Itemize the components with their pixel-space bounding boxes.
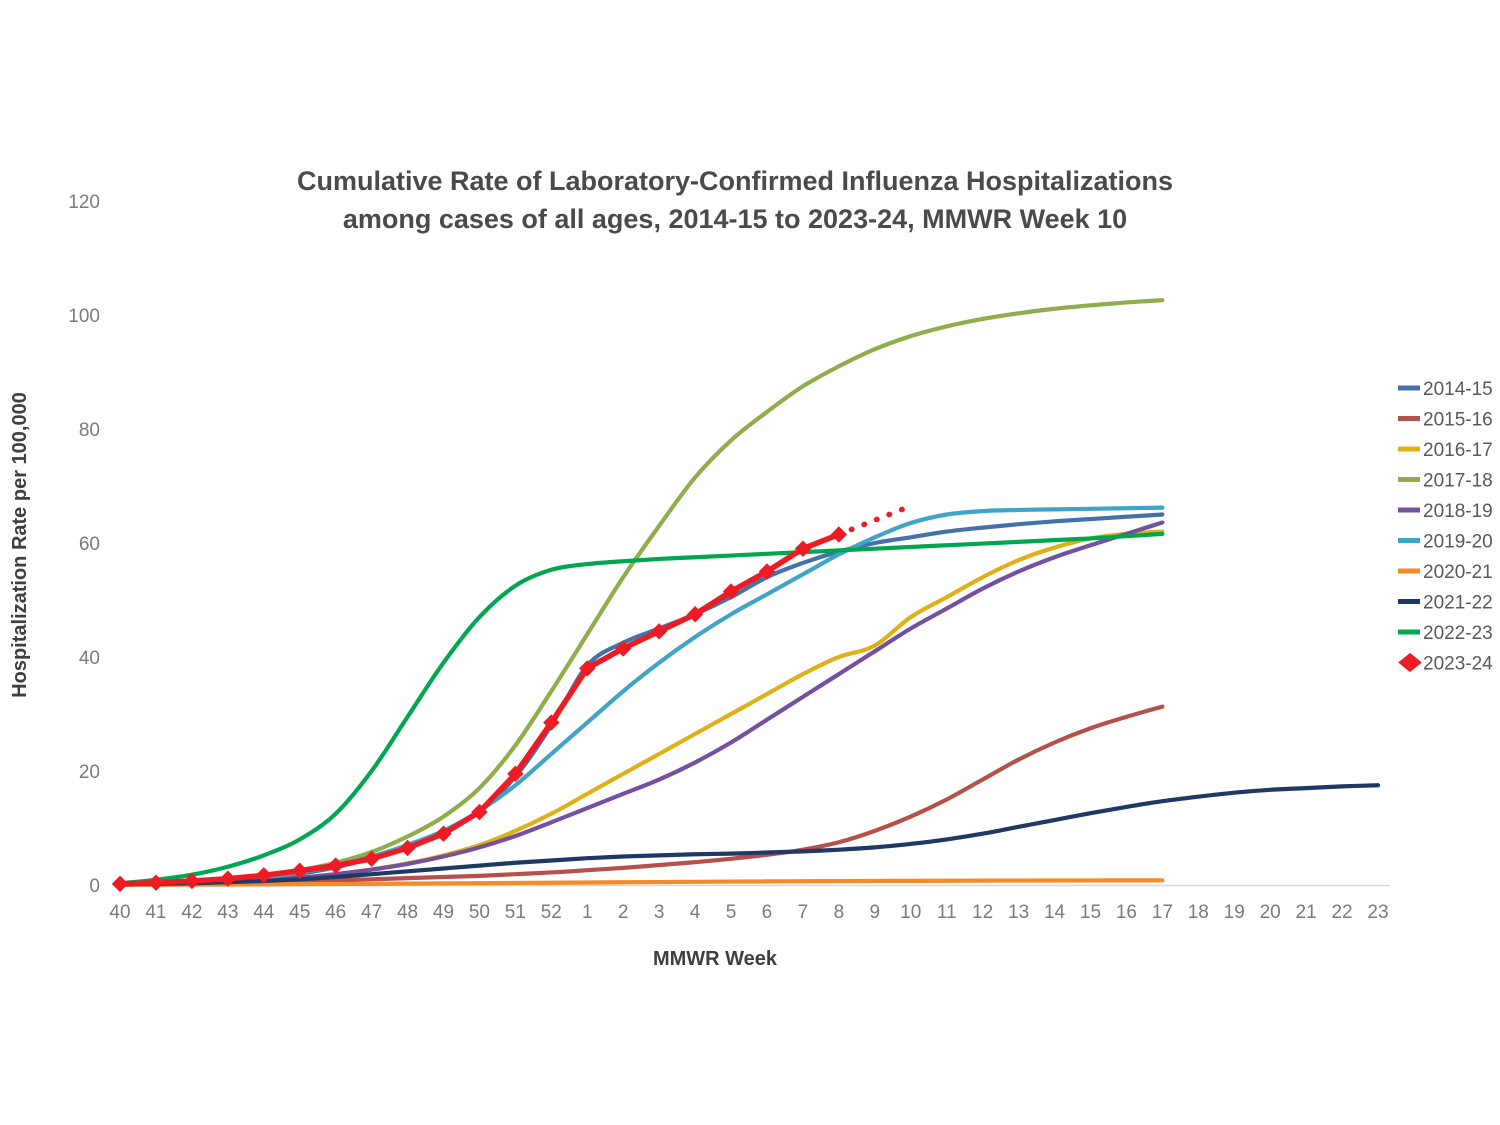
line-chart: Cumulative Rate of Laboratory-Confirmed … [0,0,1500,1125]
x-tick-label: 16 [1116,902,1137,923]
chart-title-line-2: among cases of all ages, 2014-15 to 2023… [343,204,1127,234]
x-tick-label: 49 [433,902,454,923]
x-tick-label: 1 [582,902,593,923]
x-tick-label: 4 [690,902,701,923]
x-tick-label: 20 [1260,902,1281,923]
x-tick-label: 52 [541,902,562,923]
legend-label: 2015-16 [1423,410,1493,431]
y-tick-label: 20 [79,762,100,783]
x-tick-label: 13 [1008,902,1029,923]
x-tick-label: 19 [1224,902,1245,923]
x-tick-label: 5 [726,902,737,923]
x-tick-label: 18 [1188,902,1209,923]
x-tick-label: 41 [145,902,166,923]
y-tick-label: 80 [79,420,100,441]
x-tick-label: 21 [1296,902,1317,923]
y-tick-label: 100 [68,306,100,327]
x-tick-label: 23 [1367,902,1388,923]
x-tick-label: 44 [253,902,275,923]
legend-label: 2016-17 [1423,440,1493,461]
x-axis-title: MMWR Week [653,948,778,970]
y-axis-title: Hospitalization Rate per 100,000 [9,392,31,698]
legend-label: 2020-21 [1423,562,1493,583]
y-tick-label: 120 [68,192,100,213]
chart-title-line-1: Cumulative Rate of Laboratory-Confirmed … [297,166,1173,196]
x-tick-label: 22 [1331,902,1352,923]
x-tick-label: 10 [900,902,921,923]
legend-label: 2022-23 [1423,623,1493,644]
x-tick-label: 2 [618,902,629,923]
legend-label: 2023-24 [1423,654,1493,675]
x-tick-label: 43 [217,902,238,923]
x-tick-label: 46 [325,902,346,923]
y-tick-label: 0 [89,876,100,897]
chart-container: Cumulative Rate of Laboratory-Confirmed … [0,0,1500,1125]
x-tick-label: 17 [1152,902,1173,923]
x-tick-label: 11 [937,902,957,923]
x-tick-label: 47 [361,902,382,923]
x-tick-label: 9 [870,902,881,923]
legend-label: 2019-20 [1423,532,1493,553]
legend-label: 2021-22 [1423,593,1493,614]
x-tick-label: 51 [505,902,526,923]
y-tick-label: 60 [79,534,100,555]
x-tick-label: 45 [289,902,310,923]
x-tick-label: 7 [798,902,809,923]
x-tick-label: 14 [1044,902,1066,923]
x-tick-label: 15 [1080,902,1101,923]
x-tick-label: 48 [397,902,418,923]
x-tick-label: 12 [972,902,993,923]
x-tick-label: 42 [181,902,202,923]
legend-label: 2017-18 [1423,471,1493,492]
y-tick-label: 40 [79,648,100,669]
x-tick-label: 8 [834,902,845,923]
x-tick-label: 50 [469,902,490,923]
legend-label: 2014-15 [1423,379,1493,400]
legend-label: 2018-19 [1423,501,1493,522]
x-tick-label: 6 [762,902,773,923]
x-tick-label: 40 [109,902,130,923]
x-tick-label: 3 [654,902,665,923]
